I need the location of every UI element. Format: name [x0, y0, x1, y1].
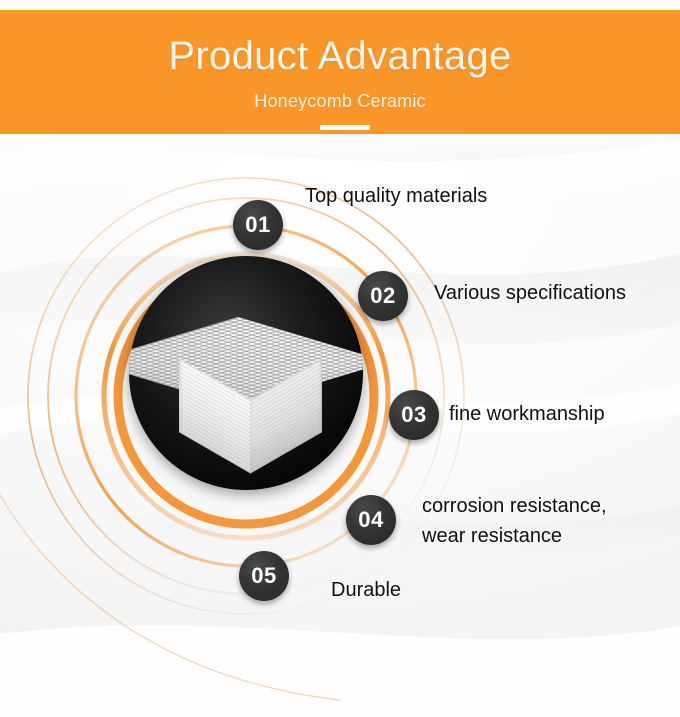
advantage-label-05: Durable: [331, 575, 401, 605]
title-underline-rule: [320, 125, 370, 130]
advantage-label-02: Various specifications: [434, 278, 626, 308]
header-banner: Product Advantage Honeycomb Ceramic: [0, 10, 680, 134]
advantage-badge-05[interactable]: 05: [239, 551, 289, 601]
advantage-badge-04[interactable]: 04: [346, 495, 396, 545]
product-advantage-infographic: Product Advantage Honeycomb Ceramic: [0, 0, 680, 717]
top-white-strip: [0, 0, 680, 10]
page-subtitle: Honeycomb Ceramic: [0, 90, 680, 112]
page-title: Product Advantage: [0, 34, 680, 78]
advantage-badge-02[interactable]: 02: [358, 271, 408, 321]
advantage-badge-01[interactable]: 01: [233, 200, 283, 250]
advantage-badge-03[interactable]: 03: [389, 390, 439, 440]
advantage-label-01: Top quality materials: [305, 181, 487, 211]
advantage-label-04: corrosion resistance, wear resistance: [422, 491, 652, 551]
advantage-label-03: fine workmanship: [449, 399, 605, 429]
